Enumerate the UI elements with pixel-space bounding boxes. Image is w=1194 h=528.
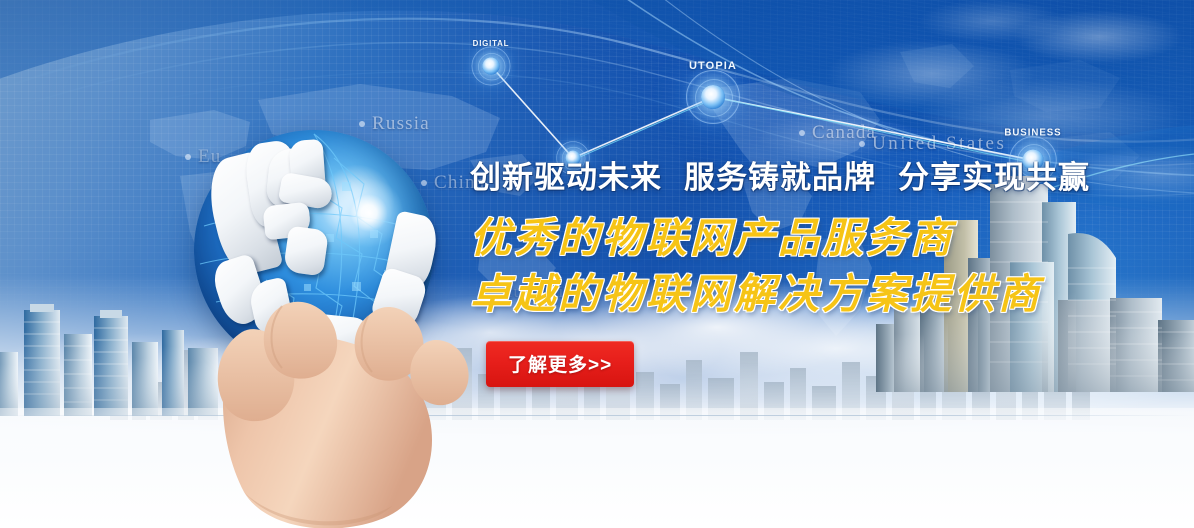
subheadline-line-2: 卓越的物联网解决方案提供商 (470, 267, 1090, 321)
network-node-digital[interactable]: DIGITAL (472, 47, 511, 86)
reflective-ground (0, 408, 1194, 528)
node-core-icon (701, 85, 725, 109)
hero-banner: Russia Eu China Canada United States Aus… (0, 0, 1194, 528)
learn-more-button[interactable]: 了解更多>> (486, 341, 634, 387)
globe-in-hand (186, 130, 476, 528)
hand-icon (186, 280, 476, 528)
horizon-line (0, 415, 1194, 416)
node-core-icon (482, 57, 499, 74)
headline-part-1: 创新驱动未来 (470, 160, 662, 195)
page-title: 创新驱动未来服务铸就品牌分享实现共赢 (470, 160, 1090, 197)
subheadline-line-1: 优秀的物联网产品服务商 (470, 211, 1090, 265)
headline-part-2: 服务铸就品牌 (684, 160, 876, 195)
network-node-utopia[interactable]: UTOPIA (686, 70, 740, 124)
puzzle-piece (283, 225, 329, 276)
banner-copy: 创新驱动未来服务铸就品牌分享实现共赢 优秀的物联网产品服务商 卓越的物联网解决方… (470, 160, 1090, 387)
headline-part-3: 分享实现共赢 (898, 160, 1090, 195)
